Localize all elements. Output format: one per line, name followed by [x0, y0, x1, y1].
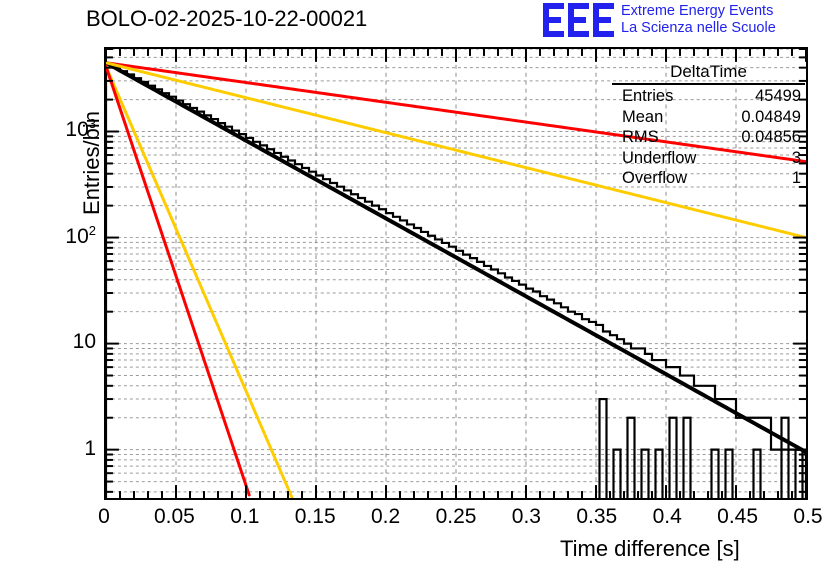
x-tick-label: 0.45 — [698, 505, 778, 529]
x-tick-label: 0.35 — [557, 505, 637, 529]
stats-box: DeltaTime Entries45499Mean0.04849RMS0.04… — [612, 62, 805, 189]
x-tick-label: 0.05 — [134, 505, 214, 529]
stats-row: Overflow1 — [612, 168, 805, 189]
x-tick-label: 0.15 — [275, 505, 355, 529]
logo-line-1: Extreme Energy Events — [621, 3, 776, 20]
stats-key: Entries — [622, 86, 673, 107]
y-tick-label: 1 — [84, 437, 96, 461]
stats-title: DeltaTime — [612, 62, 805, 83]
stats-value: 0.04849 — [741, 107, 801, 128]
y-tick-label: 10 — [73, 330, 96, 354]
stats-value: 45499 — [755, 86, 801, 107]
stats-value: 3 — [792, 148, 801, 169]
x-tick-label: 0.5 — [768, 505, 836, 529]
eee-logo: Extreme Energy Events La Scienza nelle S… — [543, 2, 833, 42]
x-axis-title: Time difference [s] — [560, 536, 740, 562]
chart-canvas: BOLO-02-2025-10-22-00021 Extreme Energy … — [0, 0, 836, 572]
x-tick-label: 0.25 — [416, 505, 496, 529]
x-tick-label: 0 — [64, 505, 144, 529]
stats-divider — [612, 83, 805, 85]
stats-value: 0.04856 — [741, 127, 801, 148]
stats-row: Underflow3 — [612, 148, 805, 169]
stats-row: RMS0.04856 — [612, 127, 805, 148]
stats-row: Mean0.04849 — [612, 107, 805, 128]
stats-key: Overflow — [622, 168, 687, 189]
x-tick-label: 0.4 — [627, 505, 707, 529]
page-title: BOLO-02-2025-10-22-00021 — [86, 6, 367, 32]
x-tick-label: 0.2 — [346, 505, 426, 529]
x-tick-label: 0.3 — [486, 505, 566, 529]
stats-key: RMS — [622, 127, 659, 148]
stats-key: Underflow — [622, 148, 696, 169]
logo-line-2: La Scienza nelle Scuole — [621, 20, 776, 37]
stats-row: Entries45499 — [612, 86, 805, 107]
stats-value: 1 — [792, 168, 801, 189]
eee-logo-icon — [543, 3, 615, 37]
x-tick-label: 0.1 — [205, 505, 285, 529]
stats-key: Mean — [622, 107, 663, 128]
y-axis-title: Entries/bin — [79, 63, 105, 263]
